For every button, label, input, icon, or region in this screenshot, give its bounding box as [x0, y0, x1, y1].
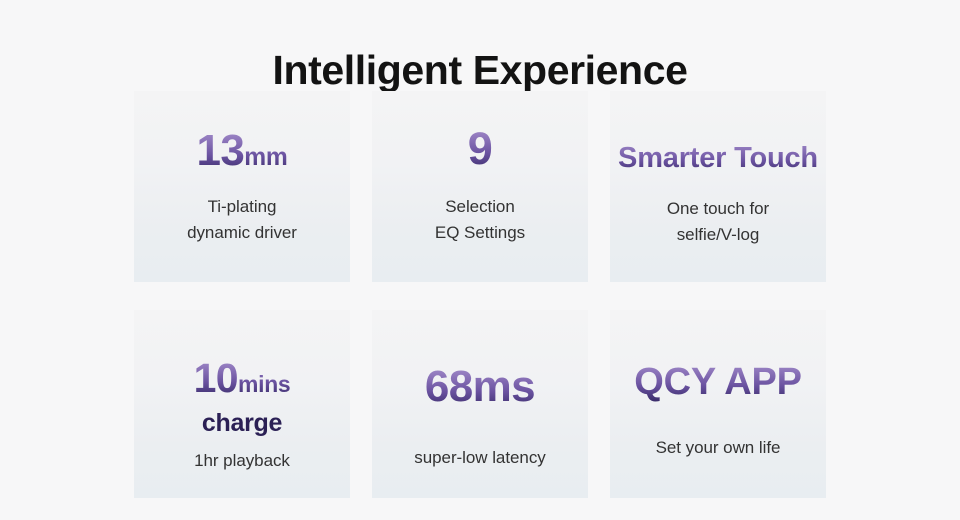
headline-value: Smarter Touch: [618, 142, 818, 174]
card-content: 68ms super-low latency: [372, 310, 588, 471]
headline-value: 9: [468, 123, 492, 174]
caption-line: EQ Settings: [372, 220, 588, 246]
feature-headline: QCY APP: [610, 358, 826, 411]
card-content: Smarter Touch One touch for selfie/V-log: [610, 91, 826, 248]
feature-card-eq: 9 Selection EQ Settings: [372, 91, 588, 282]
feature-sub-headline: charge: [134, 408, 350, 439]
feature-headline: Smarter Touch: [610, 137, 826, 183]
feature-caption: super-low latency: [372, 445, 588, 471]
feature-caption: One touch for selfie/V-log: [610, 196, 826, 248]
headline-unit: mm: [244, 144, 287, 171]
feature-caption: Ti-plating dynamic driver: [134, 194, 350, 246]
card-content: QCY APP Set your own life: [610, 310, 826, 461]
feature-caption: 1hr playback: [134, 448, 350, 474]
caption-line: selfie/V-log: [610, 222, 826, 248]
feature-card-driver: 13mm Ti-plating dynamic driver: [134, 91, 350, 282]
card-content: 9 Selection EQ Settings: [372, 91, 588, 246]
caption-line: 1hr playback: [134, 448, 350, 474]
caption-line: Selection: [372, 194, 588, 220]
feature-caption: Set your own life: [610, 435, 826, 461]
feature-headline: 13mm: [134, 126, 350, 183]
caption-line: One touch for: [610, 196, 826, 222]
feature-card-touch: Smarter Touch One touch for selfie/V-log: [610, 91, 826, 282]
headline-value: QCY APP: [634, 361, 802, 403]
caption-line: super-low latency: [372, 445, 588, 471]
headline-value: 13: [197, 126, 245, 175]
headline-value: 10: [194, 355, 238, 401]
feature-card-latency: 68ms super-low latency: [372, 310, 588, 498]
feature-card-app: QCY APP Set your own life: [610, 310, 826, 498]
caption-line: Set your own life: [610, 435, 826, 461]
card-content: 10mins charge 1hr playback: [134, 310, 350, 474]
feature-card-charge: 10mins charge 1hr playback: [134, 310, 350, 498]
feature-caption: Selection EQ Settings: [372, 194, 588, 246]
card-content: 13mm Ti-plating dynamic driver: [134, 91, 350, 246]
caption-line: dynamic driver: [134, 220, 350, 246]
feature-grid: 13mm Ti-plating dynamic driver 9 Selecti…: [134, 91, 826, 498]
feature-headline: 68ms: [372, 362, 588, 419]
marketing-feature-page: Intelligent Experience 13mm Ti-plating d…: [0, 0, 960, 520]
caption-line: Ti-plating: [134, 194, 350, 220]
headline-unit: mins: [238, 371, 290, 397]
headline-value: 68ms: [425, 362, 535, 411]
feature-headline: 10mins: [134, 355, 350, 407]
feature-headline: 9: [372, 123, 588, 182]
